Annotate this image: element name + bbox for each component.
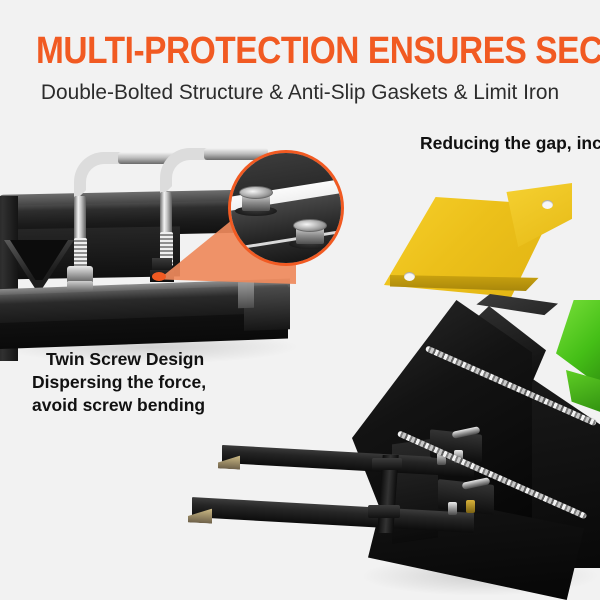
zoom-nut-right-crown [293, 219, 327, 232]
yellow-limit-iron-plate [384, 183, 584, 305]
callout-reducing-gap: Reducing the gap, increasing friction [420, 132, 600, 155]
page-subhead: Double-Bolted Structure & Anti-Slip Gask… [9, 79, 591, 105]
limit-iron-hole-top [542, 200, 553, 209]
zoom-nut-right [293, 219, 327, 249]
zoom-cone-apex-icon [152, 272, 166, 281]
callout-twin-screw-line3: avoid screw bending [32, 395, 205, 415]
hex-nut-left-lower [67, 281, 93, 291]
limit-iron-hole-bottom [404, 272, 415, 281]
magnifier-circle-icon [228, 150, 344, 266]
fork-clamp-lower [368, 505, 400, 518]
bracket-end-tab [238, 282, 254, 309]
zoom-nut-left-crown [239, 186, 273, 199]
callout-twin-screw-design: Twin Screw Design Dispersing the force, … [32, 348, 206, 417]
hitch-pin-lower-right [466, 500, 475, 513]
zoom-nut-left [239, 186, 273, 216]
page-headline: MULTI-PROTECTION ENSURES SECURITY [36, 32, 564, 70]
callout-reducing-gap-line2: increasing friction [577, 133, 600, 153]
product-marketing-image: MULTI-PROTECTION ENSURES SECURITY Double… [0, 0, 600, 600]
hitch-pin-lower-left [448, 502, 457, 515]
fork-clamp-upper [372, 458, 402, 470]
callout-twin-screw-line1: Twin Screw Design [32, 348, 206, 371]
callout-twin-screw-line2: Dispersing the force, [32, 372, 206, 392]
callout-reducing-gap-line1: Reducing the gap, [420, 133, 572, 153]
